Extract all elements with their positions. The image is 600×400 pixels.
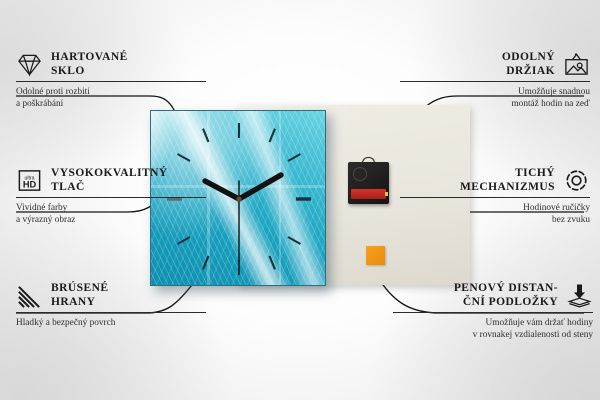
feature-durable-holder: ODOLNÝDRŽIAK Umožňuje snadnoumontáž hodi… (400, 50, 590, 110)
feature-title: HARTOVANÉSKLO (51, 50, 128, 78)
gear-icon (563, 167, 590, 194)
mechanism-battery (351, 189, 386, 199)
foam-spacer-pad (366, 246, 385, 265)
feature-foam-pads: PENOVÝ DISTAN-ČNÍ PODLOŽKY Umožňuje vám … (393, 281, 593, 341)
feature-title: PENOVÝ DISTAN-ČNÍ PODLOŽKY (454, 281, 558, 309)
clock-center-cap (236, 196, 241, 201)
clock-hour-hand (205, 181, 239, 199)
feature-header: ultra HD VYSOKOKVALITNÝTLAČ (16, 166, 206, 194)
feature-ground-edges: BRÚSENÉHRANY Hladký a bezpečný povrch (16, 281, 206, 329)
clock-mechanism (348, 162, 389, 204)
feature-header: TICHÝMECHANIZMUS (400, 166, 590, 194)
feature-hd-print: ultra HD VYSOKOKVALITNÝTLAČ Vividné farb… (16, 166, 206, 226)
feature-divider (16, 81, 206, 82)
feature-subtitle: Hodinové ručičkybez zvuku (400, 202, 590, 226)
feature-header: PENOVÝ DISTAN-ČNÍ PODLOŽKY (393, 281, 593, 309)
feature-subtitle: Hladký a bezpečný povrch (16, 317, 206, 329)
feature-header: BRÚSENÉHRANY (16, 281, 206, 309)
feature-subtitle: Odolné proti rozbitía poškrábání (16, 86, 206, 110)
feature-divider (393, 312, 593, 313)
hatched-triangle-icon (16, 282, 43, 309)
feature-subtitle: Vividné farbya výrazný obraz (16, 202, 206, 226)
feature-silent-mechanism: TICHÝMECHANIZMUS Hodinové ručičkybez zvu… (400, 166, 590, 226)
feature-title: TICHÝMECHANIZMUS (460, 166, 555, 194)
ultra-hd-icon: ultra HD (16, 167, 43, 194)
arrow-into-stack-icon (566, 282, 593, 309)
feature-title: ODOLNÝDRŽIAK (502, 50, 555, 78)
feature-title: VYSOKOKVALITNÝTLAČ (51, 166, 168, 194)
clock-minute-hand (239, 175, 281, 199)
feature-subtitle: Umožňuje snadnoumontáž hodin na zeď (400, 86, 590, 110)
feature-divider (16, 197, 206, 198)
diamond-icon (16, 51, 43, 78)
mechanism-dial (353, 167, 367, 181)
feature-header: ODOLNÝDRŽIAK (400, 50, 590, 78)
feature-subtitle: Umožňuje vám držať hodinyv rovnakej vzdi… (393, 317, 593, 341)
feature-divider (16, 312, 206, 313)
feature-tempered-glass: HARTOVANÉSKLO Odolné proti rozbitía pošk… (16, 50, 206, 110)
feature-divider (400, 81, 590, 82)
picture-hanger-icon (563, 51, 590, 78)
feature-title: BRÚSENÉHRANY (51, 281, 108, 309)
feature-header: HARTOVANÉSKLO (16, 50, 206, 78)
svg-text:HD: HD (23, 179, 37, 189)
feature-divider (400, 197, 590, 198)
